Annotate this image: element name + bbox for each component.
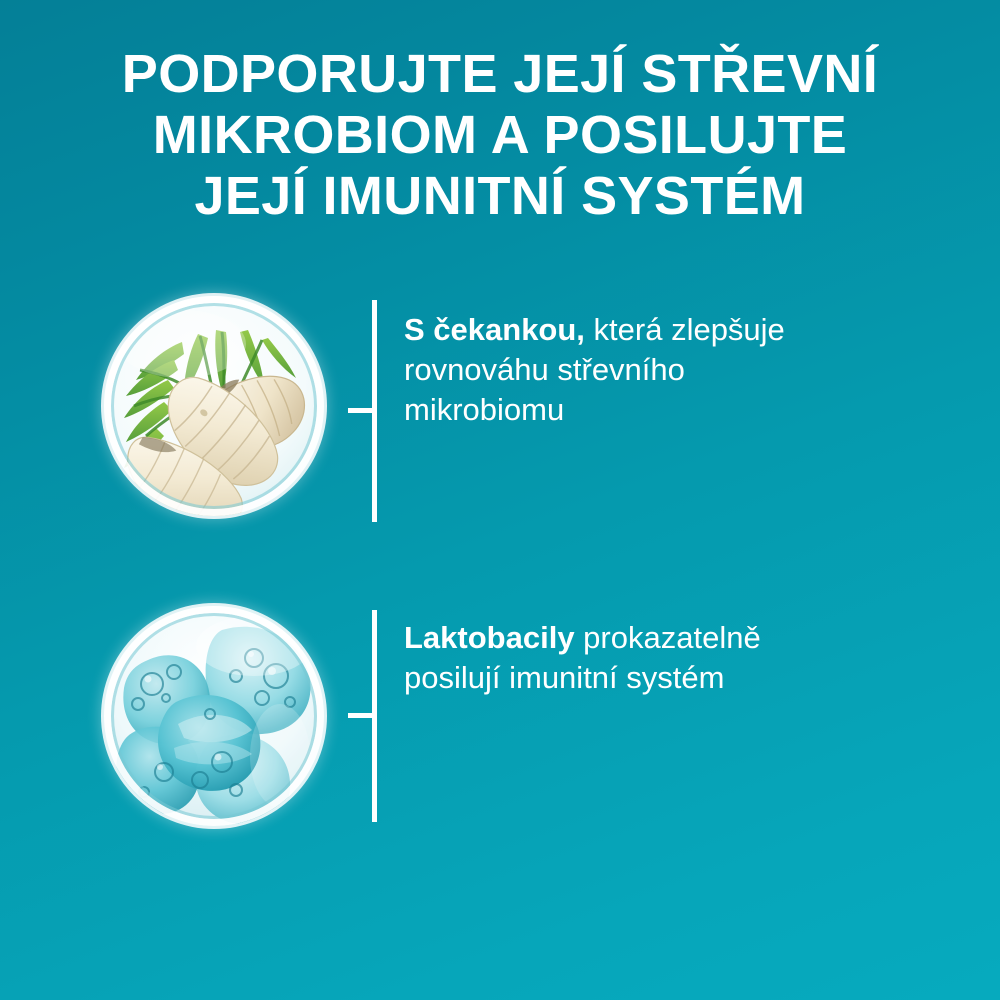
feature-lead-text: S čekankou, — [404, 312, 585, 347]
page-title: PODPORUJTE JEJÍ STŘEVNÍ MIKROBIOM A POSI… — [0, 44, 1000, 227]
lactobacilli-gel-photo — [104, 606, 324, 826]
feature-text-lactobacilli: Laktobacily prokazatelně posilují imunit… — [404, 618, 834, 698]
feature-lead-text: Laktobacily — [404, 620, 575, 655]
feature-connector-line — [324, 296, 384, 516]
feature-text-chicory: S čekankou, která zlepšuje rovnováhu stř… — [404, 310, 834, 430]
feature-item-chicory: S čekankou, která zlepšuje rovnováhu stř… — [104, 296, 834, 516]
chicory-roots-photo — [104, 296, 324, 516]
infographic-poster: PODPORUJTE JEJÍ STŘEVNÍ MIKROBIOM A POSI… — [0, 0, 1000, 1000]
chicory-roots-thumbnail — [104, 296, 324, 516]
lactobacilli-gel-thumbnail — [104, 606, 324, 826]
feature-connector-line — [324, 606, 384, 826]
connector-tick-mark — [348, 713, 377, 718]
feature-item-lactobacilli: Laktobacily prokazatelně posilují imunit… — [104, 606, 834, 826]
connector-tick-mark — [348, 408, 377, 413]
